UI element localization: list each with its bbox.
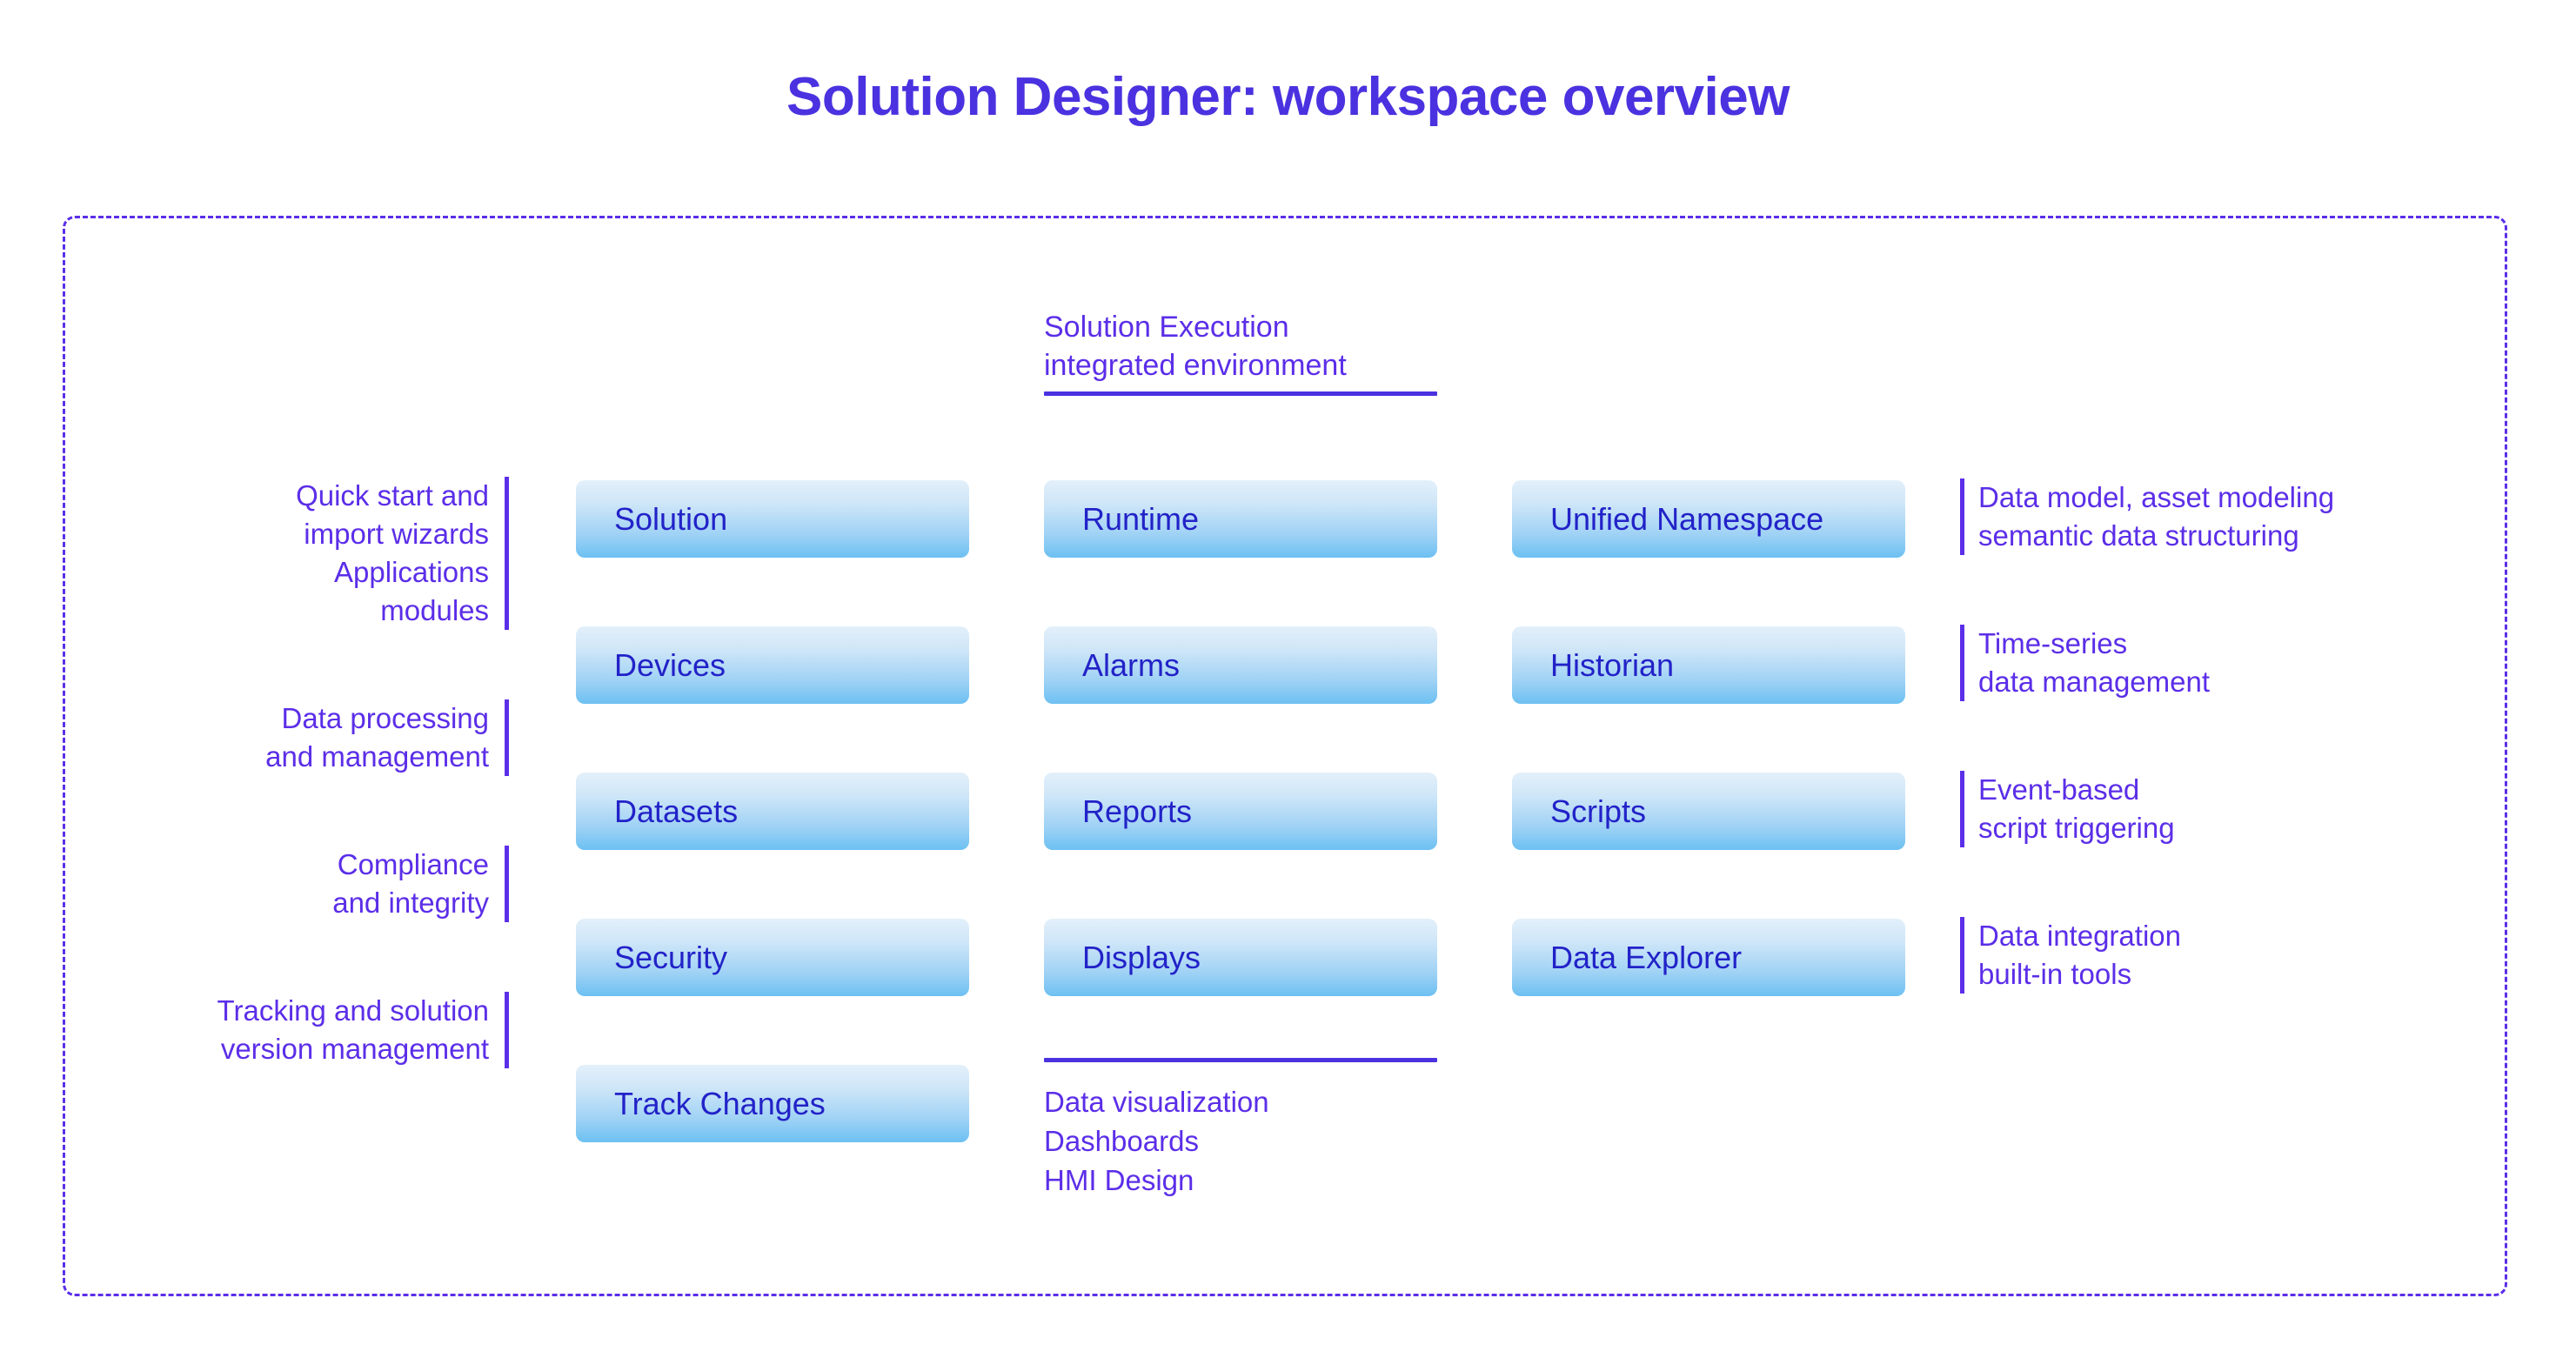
footer-caption-text: Data visualization Dashboards HMI Design: [1044, 1083, 1437, 1201]
right-label-row-3: Event-based script triggering: [1960, 771, 2175, 847]
left-label-row-5: Tracking and solution version management: [217, 992, 509, 1068]
module-box-label: Data Explorer: [1550, 942, 1742, 974]
module-box-reports[interactable]: Reports: [1044, 773, 1437, 850]
left-label-row-4: Compliance and integrity: [332, 846, 509, 922]
right-label-row-2: Time-series data management: [1960, 625, 2210, 701]
module-box-runtime[interactable]: Runtime: [1044, 480, 1437, 558]
module-box-displays[interactable]: Displays: [1044, 919, 1437, 996]
module-box-label: Alarms: [1082, 650, 1180, 681]
module-box-unified-namespace[interactable]: Unified Namespace: [1512, 480, 1905, 558]
right-label-row-4: Data integration built-in tools: [1960, 917, 2181, 994]
module-box-label: Reports: [1082, 796, 1192, 827]
module-box-label: Solution: [614, 504, 727, 535]
left-label-row-3: Data processing and management: [265, 699, 509, 776]
module-box-label: Track Changes: [614, 1088, 826, 1120]
column-header-text: Solution Execution integrated environmen…: [1044, 309, 1437, 385]
module-box-label: Devices: [614, 650, 726, 681]
module-box-track-changes[interactable]: Track Changes: [576, 1065, 969, 1142]
module-box-data-explorer[interactable]: Data Explorer: [1512, 919, 1905, 996]
module-box-label: Historian: [1550, 650, 1674, 681]
column-header-underline: [1044, 391, 1437, 396]
left-label-row-1: Quick start and import wizards: [296, 477, 509, 553]
module-box-historian[interactable]: Historian: [1512, 626, 1905, 704]
module-box-datasets[interactable]: Datasets: [576, 773, 969, 850]
module-box-label: Security: [614, 942, 727, 974]
module-box-label: Datasets: [614, 796, 738, 827]
footer-caption-block: Data visualization Dashboards HMI Design: [1044, 1058, 1437, 1201]
module-box-scripts[interactable]: Scripts: [1512, 773, 1905, 850]
module-box-label: Runtime: [1082, 504, 1199, 535]
module-box-label: Displays: [1082, 942, 1201, 974]
module-box-label: Unified Namespace: [1550, 504, 1823, 535]
module-box-alarms[interactable]: Alarms: [1044, 626, 1437, 704]
left-label-row-2: Applications modules: [334, 553, 509, 630]
page-title: Solution Designer: workspace overview: [0, 68, 2576, 127]
module-box-security[interactable]: Security: [576, 919, 969, 996]
right-label-row-1: Data model, asset modeling semantic data…: [1960, 478, 2334, 555]
column-header-solution-execution: Solution Execution integrated environmen…: [1044, 309, 1437, 396]
footer-divider: [1044, 1058, 1437, 1062]
module-box-devices[interactable]: Devices: [576, 626, 969, 704]
module-box-solution[interactable]: Solution: [576, 480, 969, 558]
module-box-label: Scripts: [1550, 796, 1646, 827]
